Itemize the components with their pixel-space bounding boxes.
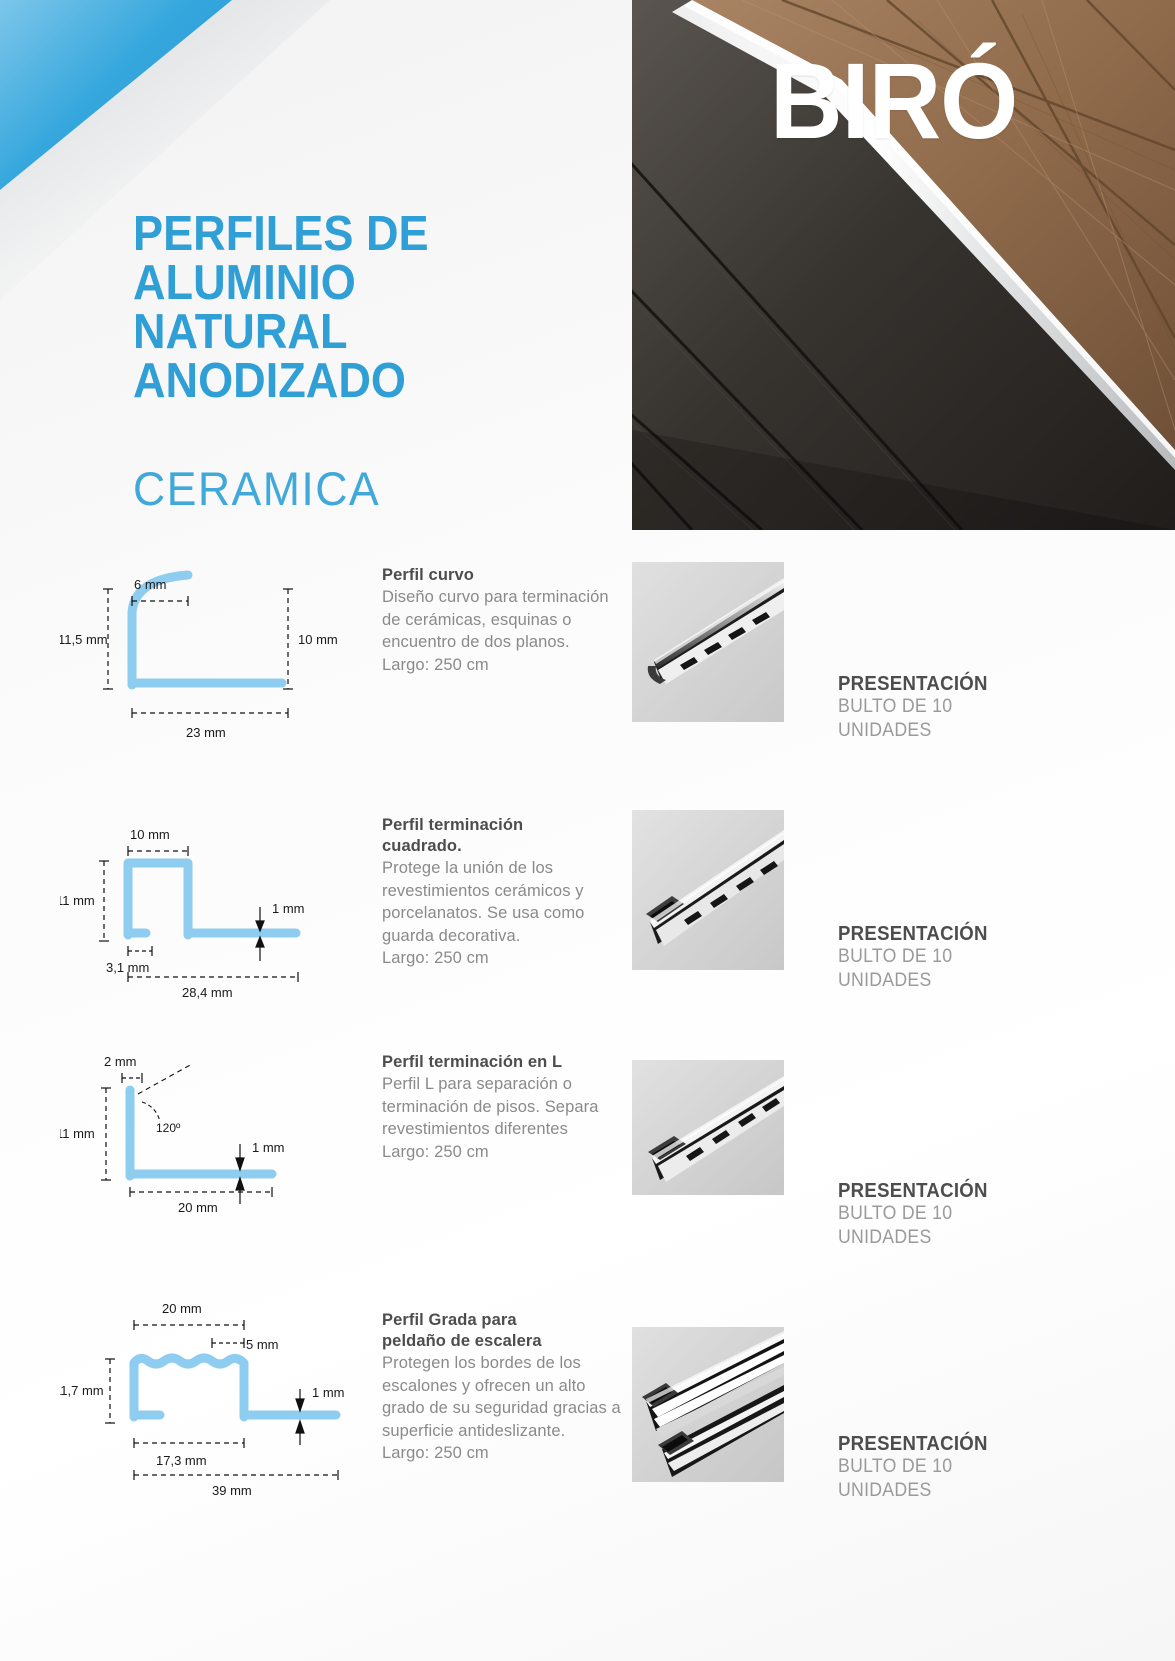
dim-bottom-width-3: 20 mm [178,1200,218,1215]
product-3-description-block: Perfil terminación en L Perfil L para se… [382,1052,622,1163]
product-1-technical-drawing: 6 mm 11,5 mm 10 mm [60,565,360,755]
dim-right-height-1: 10 mm [298,632,338,647]
product-2-length: Largo: 250 cm [382,947,622,970]
product-3-length: Largo: 250 cm [382,1141,622,1164]
dim-top-width-2: 10 mm [130,827,170,842]
product-2-presentation-label: PRESENTACIÓN [838,923,1043,945]
product-1-length: Largo: 250 cm [382,654,622,677]
product-3-technical-drawing: 2 mm 120º 11 mm [60,1040,360,1230]
product-2-presentation: PRESENTACIÓN BULTO DE 10 UNIDADES [838,923,1058,993]
page-title: PERFILES DE ALUMINIO NATURAL ANODIZADO [133,210,556,406]
product-2-photo [632,810,784,970]
product-2-presentation-value: BULTO DE 10 UNIDADES [838,945,1043,993]
catalog-page: BIRÓ PERFILES DE ALUMINIO NATURAL ANODIZ… [0,0,1175,1661]
product-2-name-line-2: cuadrado. [382,837,462,855]
product-4-name-line-1: Perfil Grada para [382,1311,517,1329]
product-4-presentation-value: BULTO DE 10 UNIDADES [838,1455,1043,1503]
product-1-name: Perfil curvo [382,565,622,586]
product-1-photo [632,562,784,722]
product-2-name: Perfil terminación cuadrado. [382,815,622,857]
product-1-presentation-label: PRESENTACIÓN [838,673,1043,695]
product-3-photo [632,1060,784,1195]
product-4-length: Largo: 250 cm [382,1442,622,1465]
product-4-photo [632,1327,784,1482]
product-1-presentation: PRESENTACIÓN BULTO DE 10 UNIDADES [838,673,1058,743]
dim-thickness-3: 1 mm [252,1140,285,1155]
brand-logo: BIRÓ [770,48,1040,153]
product-3-presentation: PRESENTACIÓN BULTO DE 10 UNIDADES [838,1180,1058,1250]
dim-top-width-3: 2 mm [104,1054,137,1069]
dim-thickness-2: 1 mm [272,901,305,916]
product-2-name-line-1: Perfil terminación [382,816,523,834]
dim-bottom-width-4: 39 mm [212,1483,252,1498]
dim-top-width-1: 6 mm [134,577,167,592]
dim-tread-width-4: 5 mm [246,1337,279,1352]
dim-angle-3: 120º [156,1121,181,1135]
product-4-description-block: Perfil Grada para peldaño de escalera Pr… [382,1310,622,1465]
product-4-technical-drawing: 20 mm 5 mm 11,7 mm [60,1285,360,1475]
dim-bottom-width-2: 28,4 mm [182,985,233,1000]
product-4-name: Perfil Grada para peldaño de escalera [382,1310,622,1352]
product-4-presentation-label: PRESENTACIÓN [838,1433,1043,1455]
product-2-description: Protege la unión de los revestimientos c… [382,857,622,947]
dim-inner-width-4: 17,3 mm [156,1453,207,1468]
product-4-description: Protegen los bordes de los escalones y o… [382,1352,622,1442]
product-1-presentation-value: BULTO DE 10 UNIDADES [838,695,1043,743]
dim-thickness-4: 1 mm [312,1385,345,1400]
product-3-name: Perfil terminación en L [382,1052,622,1073]
dim-left-height-4: 11,7 mm [60,1383,104,1398]
product-3-presentation-label: PRESENTACIÓN [838,1180,1043,1202]
page-title-line-1: PERFILES DE [133,210,556,259]
dim-bottom-width-1: 23 mm [186,725,226,740]
product-4-name-line-2: peldaño de escalera [382,1332,542,1350]
product-3-presentation-value: BULTO DE 10 UNIDADES [838,1202,1043,1250]
dim-left-height-1: 11,5 mm [60,632,108,647]
product-3-description: Perfil L para separación o terminación d… [382,1073,622,1141]
dim-left-height-2: 11 mm [60,893,95,908]
product-4-presentation: PRESENTACIÓN BULTO DE 10 UNIDADES [838,1433,1058,1503]
product-1-description-block: Perfil curvo Diseño curvo para terminaci… [382,565,622,676]
section-title: CERAMICA [133,465,380,512]
product-1-description: Diseño curvo para terminación de cerámic… [382,586,622,654]
dim-left-height-3: 11 mm [60,1126,95,1141]
page-title-line-2: ALUMINIO NATURAL [133,259,556,357]
page-title-line-3: ANODIZADO [133,357,556,406]
blue-corner-decoration [0,0,232,190]
product-2-technical-drawing: 10 mm 11 mm 1 mm [60,815,360,1005]
dim-top-width-4: 20 mm [162,1301,202,1316]
product-2-description-block: Perfil terminación cuadrado. Protege la … [382,815,622,970]
